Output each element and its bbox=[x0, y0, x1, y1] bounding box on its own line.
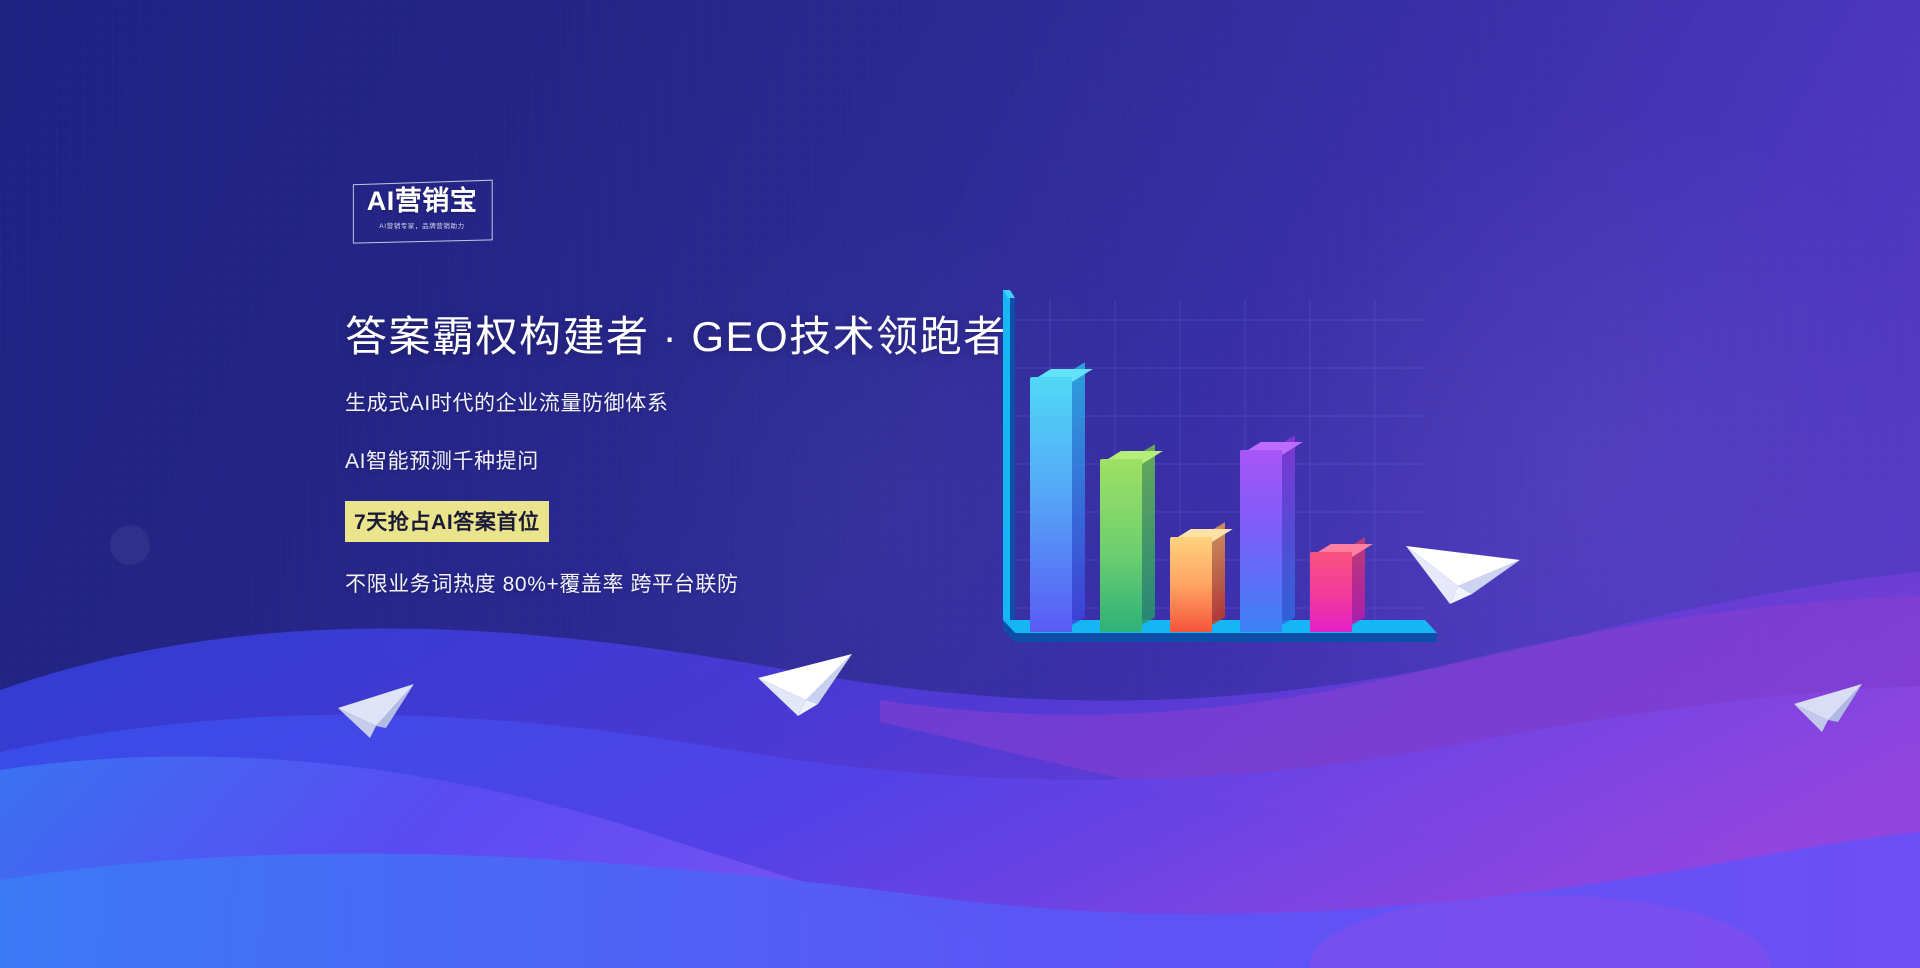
bar-chart-illustration bbox=[975, 290, 1445, 660]
banner-root: AI营销宝 AI营销专家，品牌营销助力 答案霸权构建者 · GEO技术领跑者 生… bbox=[0, 0, 1920, 968]
logo-tagline: AI营销专家，品牌营销助力 bbox=[352, 220, 492, 230]
chart-bar-4-side bbox=[1282, 435, 1295, 625]
page-title: 答案霸权构建者 · GEO技术领跑者 bbox=[345, 312, 1065, 362]
hero-subline-2: AI智能预测千种提问 bbox=[345, 445, 1065, 475]
chart-bar-3 bbox=[1170, 537, 1212, 632]
chart-bar-5-face bbox=[1310, 552, 1352, 632]
chart-bar-1-face bbox=[1030, 377, 1072, 632]
hero-subline-1: 生成式AI时代的企业流量防御体系 bbox=[345, 387, 1065, 417]
chart-bar-1 bbox=[1030, 377, 1072, 632]
hero-highlight-wrap: 7天抢占AI答案首位 bbox=[345, 501, 1065, 542]
chart-bar-2-face bbox=[1100, 459, 1142, 632]
chart-y-axis bbox=[1003, 290, 1015, 628]
chart-bar-3-face bbox=[1170, 537, 1212, 632]
paper-plane-left bbox=[330, 668, 426, 748]
hero-copy: 答案霸权构建者 · GEO技术领跑者 生成式AI时代的企业流量防御体系 AI智能… bbox=[345, 312, 1065, 598]
chart-bar-4 bbox=[1240, 450, 1282, 632]
paper-plane-lower-left bbox=[748, 632, 868, 732]
chart-bar-2-side bbox=[1142, 444, 1155, 625]
paper-plane-right bbox=[1398, 508, 1528, 618]
chart-bar-4-face bbox=[1240, 450, 1282, 632]
logo-text: AI营销宝 bbox=[352, 188, 492, 215]
brand-logo[interactable]: AI营销宝 AI营销专家，品牌营销助力 bbox=[352, 182, 492, 242]
chart-bar-2 bbox=[1100, 459, 1142, 632]
chart-bar-1-side bbox=[1072, 362, 1085, 625]
paper-plane-far-right bbox=[1788, 670, 1874, 742]
chart-bar-5 bbox=[1310, 552, 1352, 632]
hero-highlight-badge: 7天抢占AI答案首位 bbox=[345, 501, 549, 542]
hero-subline-4: 不限业务词热度 80%+覆盖率 跨平台联防 bbox=[345, 568, 1065, 598]
